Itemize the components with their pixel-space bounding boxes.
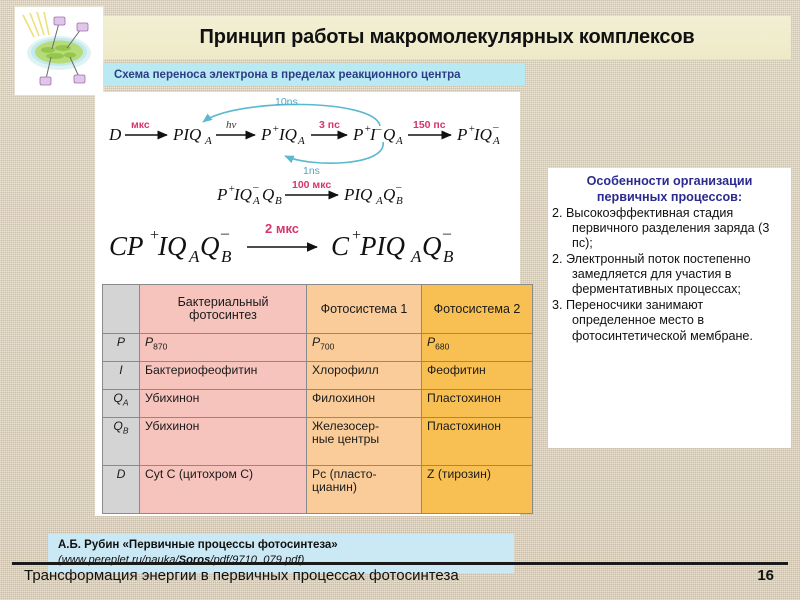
footer-divider	[12, 562, 788, 565]
page-title: Принцип работы макромолекулярных комплек…	[200, 26, 695, 49]
cell-p-ps1: P700	[307, 334, 422, 362]
row-label-base: Q	[113, 391, 122, 405]
slide-subtitle-bar: Схема переноса электрона в пределах реак…	[103, 63, 525, 86]
svg-text:Q: Q	[422, 231, 442, 261]
svg-text:A: A	[395, 135, 403, 147]
table-row: QB Убихинон Железосер-ные центры Пластох…	[103, 418, 533, 466]
svg-text:A: A	[188, 247, 200, 266]
svg-text:B: B	[396, 195, 403, 207]
svg-text:D: D	[108, 125, 122, 144]
cell-qa-bacterial: Убихинон	[140, 390, 307, 418]
table-header-bacterial: Бактериальный фотосинтез	[140, 285, 307, 334]
citation-title: А.Б. Рубин «Первичные процессы фотосинте…	[58, 538, 514, 553]
svg-text:–: –	[395, 181, 402, 193]
cell-text-line2: ные центры	[312, 432, 379, 446]
electron-transfer-scheme: .sp{font-family:"Liberation Serif",serif…	[95, 92, 520, 287]
cell-i-bacterial: Бактериофеофитин	[140, 362, 307, 390]
cell-qa-ps1: Филохинон	[307, 390, 422, 418]
chloroplast-illustration	[15, 7, 103, 95]
svg-text:P: P	[456, 125, 467, 144]
table-header-ps1: Фотосистема 1	[307, 285, 422, 334]
cell-d-ps2: Z (тирозин)	[422, 466, 533, 514]
svg-text:B: B	[221, 247, 232, 266]
table-header-blank	[103, 285, 140, 334]
row-label-d: D	[103, 466, 140, 514]
svg-text:10ns: 10ns	[275, 96, 298, 108]
table-row: QA Убихинон Филохинон Пластохинон	[103, 390, 533, 418]
list-item-number: 3.	[552, 298, 566, 313]
svg-text:B: B	[275, 195, 282, 207]
svg-text:IQ: IQ	[278, 125, 297, 144]
cell-text: P	[312, 335, 320, 349]
svg-text:–: –	[442, 225, 452, 242]
footer-text: Трансформация энергии в первичных процес…	[24, 567, 459, 584]
reaction-scheme-svg: .sp{font-family:"Liberation Serif",serif…	[95, 92, 520, 287]
table-header-ps2: Фотосистема 2	[422, 285, 533, 334]
cell-qb-ps1: Железосер-ные центры	[307, 418, 422, 466]
svg-text:Q: Q	[262, 185, 274, 204]
features-list: 2.Высокоэффективная стадия первичного ра…	[552, 206, 787, 344]
cell-qb-bacterial: Убихинон	[140, 418, 307, 466]
svg-text:P: P	[260, 125, 271, 144]
list-item-text: Переносчики занимают определенное место …	[566, 298, 753, 342]
slide-subtitle: Схема переноса электрона в пределах реак…	[103, 69, 461, 81]
svg-text:2 мкс: 2 мкс	[265, 221, 299, 236]
cell-d-bacterial: Cyt C (цитохром C)	[140, 466, 307, 514]
list-item-number: 2.	[552, 206, 566, 221]
table-row: D Cyt C (цитохром C) Pc (пласто-цианин) …	[103, 466, 533, 514]
cell-text: P	[427, 335, 435, 349]
table-header-row: Бактериальный фотосинтез Фотосистема 1 Ф…	[103, 285, 533, 334]
cell-d-ps1: Pc (пласто-цианин)	[307, 466, 422, 514]
svg-text:A: A	[252, 195, 260, 207]
row-label-sub: A	[123, 397, 129, 407]
svg-text:P: P	[216, 185, 227, 204]
svg-text:A: A	[492, 135, 500, 147]
slide-number: 16	[757, 567, 774, 584]
svg-text:IQ: IQ	[233, 185, 252, 204]
svg-text:A: A	[297, 135, 305, 147]
photosystem-comparison-table: Бактериальный фотосинтез Фотосистема 1 Ф…	[102, 284, 533, 514]
cell-qb-ps2: Пластохинон	[422, 418, 533, 466]
cell-text-line2: цианин)	[312, 480, 357, 494]
list-item-text: Электронный поток постепенно замедляется…	[566, 252, 751, 296]
cell-sub: 870	[153, 341, 167, 351]
info-heading-line2: первичных процессов:	[552, 190, 787, 205]
svg-text:PIQ: PIQ	[172, 125, 201, 144]
content-panel: .sp{font-family:"Liberation Serif",serif…	[95, 92, 520, 516]
svg-text:C: C	[331, 231, 350, 261]
cell-sub: 700	[320, 341, 334, 351]
chloroplast-logo	[14, 6, 104, 96]
cell-sub: 680	[435, 341, 449, 351]
table-row: P P870 P700 P680	[103, 334, 533, 362]
svg-text:PIQ: PIQ	[343, 185, 372, 204]
svg-text:–: –	[492, 121, 499, 133]
slide-title-bar: Принцип работы макромолекулярных комплек…	[103, 16, 791, 59]
list-item-number: 2.	[552, 252, 566, 267]
svg-text:100 мкс: 100 мкс	[292, 179, 331, 191]
list-item: 2.Электронный поток постепенно замедляет…	[552, 252, 787, 297]
list-item: 2.Высокоэффективная стадия первичного ра…	[552, 206, 787, 251]
svg-text:P: P	[352, 125, 363, 144]
svg-text:Q: Q	[383, 125, 395, 144]
svg-text:hv: hv	[226, 119, 237, 131]
slide-footer: Трансформация энергии в первичных процес…	[12, 562, 788, 592]
cell-text: P	[145, 335, 153, 349]
svg-text:IQ: IQ	[473, 125, 492, 144]
cell-i-ps1: Хлорофилл	[307, 362, 422, 390]
features-info-box: Особенности организации первичных процес…	[548, 168, 791, 448]
cell-qa-ps2: Пластохинон	[422, 390, 533, 418]
svg-text:IQ: IQ	[157, 231, 187, 261]
cell-i-ps2: Феофитин	[422, 362, 533, 390]
svg-text:150 пс: 150 пс	[413, 119, 446, 131]
cell-p-ps2: P680	[422, 334, 533, 362]
svg-text:A: A	[204, 135, 212, 147]
svg-text:A: A	[375, 195, 383, 207]
svg-text:мкс: мкс	[131, 119, 150, 131]
cell-p-bacterial: P870	[140, 334, 307, 362]
list-item: 3.Переносчики занимают определенное мест…	[552, 298, 787, 343]
svg-text:–: –	[220, 225, 230, 242]
row-label-i: I	[103, 362, 140, 390]
svg-text:Q: Q	[200, 231, 220, 261]
row-label-base: Q	[113, 419, 122, 433]
row-label-p: P	[103, 334, 140, 362]
svg-text:PIQ: PIQ	[359, 231, 405, 261]
row-label-qa: QA	[103, 390, 140, 418]
svg-text:B: B	[443, 247, 454, 266]
row-label-qb: QB	[103, 418, 140, 466]
svg-text:–: –	[252, 181, 259, 193]
svg-text:Q: Q	[383, 185, 395, 204]
list-item-text: Высокоэффективная стадия первичного разд…	[566, 206, 769, 250]
svg-text:3 пс: 3 пс	[319, 119, 340, 131]
info-heading-line1: Особенности организации	[552, 174, 787, 189]
svg-text:–: –	[375, 123, 382, 135]
table-row: I Бактериофеофитин Хлорофилл Феофитин	[103, 362, 533, 390]
svg-text:CP: CP	[109, 231, 144, 261]
svg-text:1ns: 1ns	[303, 165, 320, 177]
svg-text:A: A	[410, 247, 422, 266]
row-label-sub: B	[123, 425, 129, 435]
